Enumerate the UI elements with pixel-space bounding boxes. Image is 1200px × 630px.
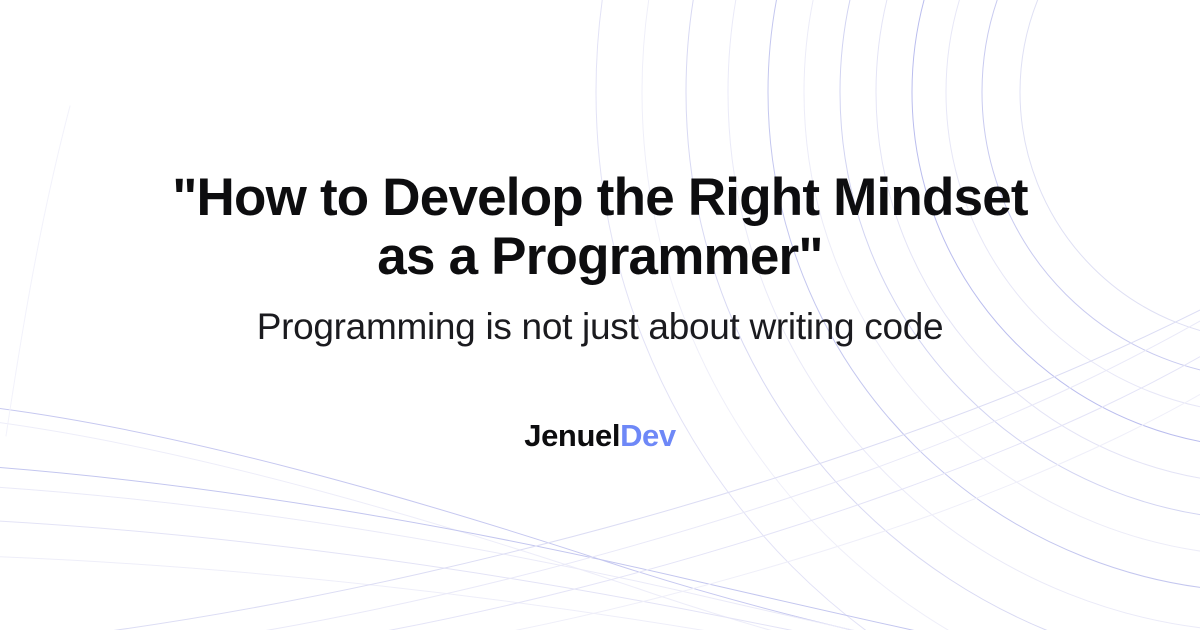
brand-name-primary: Jenuel <box>524 418 620 453</box>
card-content: "How to Develop the Right Mindset as a P… <box>0 0 1200 630</box>
social-share-card: "How to Develop the Right Mindset as a P… <box>0 0 1200 630</box>
brand-logo[interactable]: JenuelDev <box>524 420 675 451</box>
page-title: "How to Develop the Right Mindset as a P… <box>170 168 1030 287</box>
brand-name-accent: Dev <box>620 418 676 453</box>
page-subtitle: Programming is not just about writing co… <box>150 305 1050 349</box>
